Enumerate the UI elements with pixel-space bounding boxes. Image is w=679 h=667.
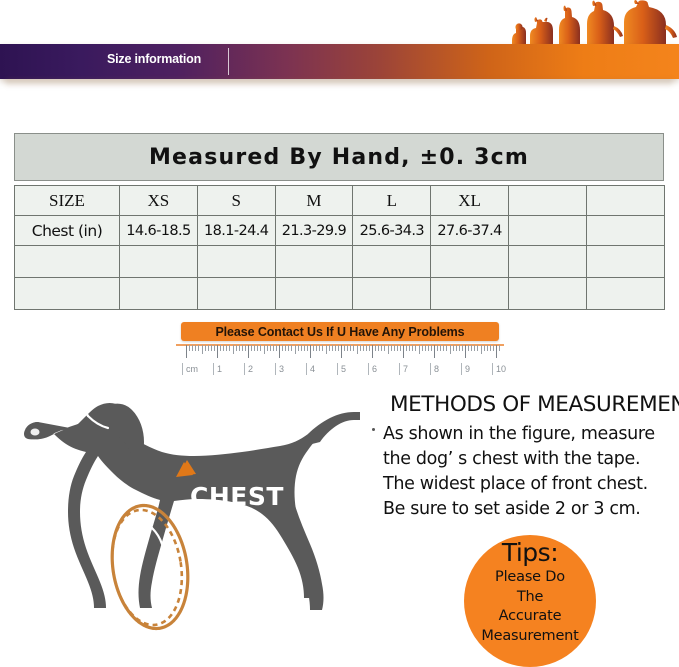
ruler-tick <box>481 345 482 354</box>
ruler-tick <box>431 345 432 351</box>
ruler-tick <box>233 345 234 354</box>
size-table-section: Measured By Hand, ±0. 3cm SIZE XS S M L … <box>14 133 664 310</box>
ruler-tick <box>419 345 420 354</box>
ruler-graphic: cm12345678910 <box>176 344 504 380</box>
ruler-tick <box>353 345 354 351</box>
table-cell <box>353 246 431 278</box>
ruler-label: 1 <box>217 364 222 374</box>
table-cell <box>197 278 275 310</box>
ruler-tick <box>264 345 265 354</box>
header-bar-shadow <box>6 79 672 88</box>
ruler-tick <box>446 345 447 351</box>
ruler-label: 3 <box>279 364 284 374</box>
ruler-tick <box>363 345 364 351</box>
ruler-tick <box>378 345 379 351</box>
ruler-tick <box>301 345 302 351</box>
ruler-tick <box>450 345 451 354</box>
methods-body: As shown in the figure, measure the dog’… <box>383 422 679 522</box>
ruler-tick <box>375 345 376 351</box>
ruler-tick <box>459 345 460 351</box>
ruler-tick <box>406 345 407 351</box>
table-cell <box>508 246 586 278</box>
ruler-tick <box>471 345 472 351</box>
ruler-tick <box>388 345 389 354</box>
ruler-label-line <box>430 363 431 375</box>
ruler-tick <box>298 345 299 351</box>
ruler-tick <box>428 345 429 351</box>
ruler-label: 5 <box>341 364 346 374</box>
ruler-tick <box>267 345 268 351</box>
ruler-tick <box>468 345 469 351</box>
ruler-label: 6 <box>372 364 377 374</box>
ruler-tick <box>248 345 249 358</box>
table-header-cell: XL <box>431 186 509 216</box>
ruler-label-line <box>399 363 400 375</box>
ruler-tick <box>443 345 444 351</box>
ruler-label: 2 <box>248 364 253 374</box>
ruler-tick <box>304 345 305 351</box>
table-cell <box>586 246 664 278</box>
ruler-tick <box>251 345 252 351</box>
ruler-tick <box>474 345 475 351</box>
ruler-tick <box>403 345 404 358</box>
ruler-tick <box>462 345 463 351</box>
table-cell <box>15 246 120 278</box>
table-header-cell <box>508 186 586 216</box>
ruler-tick <box>239 345 240 351</box>
ruler-tick <box>316 345 317 351</box>
table-cell <box>275 278 353 310</box>
ruler-label-line <box>337 363 338 375</box>
header-divider <box>228 48 229 75</box>
ruler-label-line <box>368 363 369 375</box>
table-row <box>15 246 665 278</box>
ruler-tick <box>425 345 426 351</box>
table-cell: 14.6-18.5 <box>120 216 198 246</box>
methods-title: METHODS OF MEASUREMENT <box>390 392 679 417</box>
size-table: SIZE XS S M L XL Chest (in) 14.6-18.5 18… <box>14 185 665 310</box>
table-cell <box>197 246 275 278</box>
ruler-tick <box>282 345 283 351</box>
ruler-tick <box>260 345 261 351</box>
methods-line: Be sure to set aside 2 or 3 cm. <box>383 497 679 522</box>
methods-line: As shown in the figure, measure <box>383 422 679 447</box>
ruler-tick <box>357 345 358 354</box>
table-header-cell: SIZE <box>15 186 120 216</box>
ruler-label-line <box>306 363 307 375</box>
table-cell <box>431 278 509 310</box>
table-header-cell: L <box>353 186 431 216</box>
ruler-tick <box>456 345 457 351</box>
ruler-tick <box>465 345 466 358</box>
ruler-tick <box>189 345 190 351</box>
ruler-tick <box>329 345 330 351</box>
ruler-label: 4 <box>310 364 315 374</box>
ruler-tick <box>415 345 416 351</box>
ruler-tick <box>493 345 494 351</box>
ruler-tick <box>195 345 196 351</box>
ruler-tick <box>496 345 497 358</box>
ruler-tick <box>205 345 206 351</box>
table-title: Measured By Hand, ±0. 3cm <box>14 133 664 181</box>
ruler-label: 8 <box>434 364 439 374</box>
tips-line: Measurement <box>456 627 604 647</box>
ruler-tick <box>307 345 308 351</box>
table-header-cell: M <box>275 186 353 216</box>
ruler-tick <box>499 345 500 351</box>
ruler-label: 10 <box>496 364 506 374</box>
table-header-row: SIZE XS S M L XL <box>15 186 665 216</box>
ruler-label-line <box>182 363 183 375</box>
table-cell <box>275 246 353 278</box>
ruler-tick <box>295 345 296 354</box>
table-cell: 21.3-29.9 <box>275 216 353 246</box>
ruler-tick <box>332 345 333 351</box>
ruler-tick <box>326 345 327 354</box>
table-cell <box>586 278 664 310</box>
ruler-tick <box>338 345 339 351</box>
table-cell <box>508 216 586 246</box>
page-header: Size information <box>0 0 679 95</box>
tips-line: The <box>456 588 604 608</box>
ruler-label-line <box>492 363 493 375</box>
table-cell: 25.6-34.3 <box>353 216 431 246</box>
chest-label: CHEST <box>190 482 284 511</box>
table-header-cell <box>586 186 664 216</box>
ruler-tick <box>490 345 491 351</box>
tips-line: Please Do <box>456 568 604 588</box>
ruler-label-line <box>213 363 214 375</box>
ruler-tick <box>391 345 392 351</box>
ruler-tick <box>319 345 320 351</box>
tips-heading: Tips: <box>464 538 596 567</box>
ruler-tick <box>226 345 227 351</box>
ruler-tick <box>310 345 311 358</box>
table-cell <box>120 246 198 278</box>
ruler-tick <box>242 345 243 351</box>
ruler-tick <box>257 345 258 351</box>
ruler-tick <box>335 345 336 351</box>
ruler-tick <box>202 345 203 354</box>
header-title: Size information <box>107 52 201 66</box>
ruler-tick <box>186 345 187 358</box>
table-row: Chest (in) 14.6-18.5 18.1-24.4 21.3-29.9… <box>15 216 665 246</box>
ruler-tick <box>487 345 488 351</box>
ruler-tick <box>291 345 292 351</box>
ruler-tick <box>217 345 218 358</box>
ruler-label-line <box>244 363 245 375</box>
ruler-tick <box>484 345 485 351</box>
table-cell: 27.6-37.4 <box>431 216 509 246</box>
ruler-tick <box>366 345 367 351</box>
ruler-label: 7 <box>403 364 408 374</box>
ruler-tick <box>341 345 342 358</box>
ruler-tick <box>437 345 438 351</box>
ruler-tick <box>220 345 221 351</box>
ruler-tick <box>347 345 348 351</box>
ruler-tick <box>394 345 395 351</box>
ruler-tick <box>270 345 271 351</box>
ruler-tick <box>440 345 441 351</box>
tips-circle: Tips: Please Do The Accurate Measurement <box>464 535 596 667</box>
ruler-tick <box>285 345 286 351</box>
table-row <box>15 278 665 310</box>
table-cell <box>431 246 509 278</box>
ruler-tick <box>369 345 370 351</box>
ruler-tick <box>434 345 435 358</box>
table-header-cell: S <box>197 186 275 216</box>
ruler-tick <box>208 345 209 351</box>
ruler-tick <box>360 345 361 351</box>
ruler-tick <box>214 345 215 351</box>
methods-bullet-icon <box>372 428 375 431</box>
table-header-cell: XS <box>120 186 198 216</box>
ruler-tick <box>350 345 351 351</box>
dog-silhouettes-row-icon <box>504 0 679 50</box>
ruler-tick <box>313 345 314 351</box>
ruler-tick <box>344 345 345 351</box>
ruler-label-line <box>461 363 462 375</box>
table-cell: 18.1-24.4 <box>197 216 275 246</box>
ruler-tick <box>211 345 212 351</box>
dog-illustration <box>4 382 368 667</box>
ruler-tick <box>422 345 423 351</box>
ruler-tick <box>279 345 280 358</box>
ruler-tick <box>381 345 382 351</box>
ruler-tick <box>198 345 199 351</box>
ruler-tick <box>322 345 323 351</box>
ruler-tick <box>229 345 230 351</box>
ruler-tick <box>412 345 413 351</box>
table-cell <box>353 278 431 310</box>
contact-banner: Please Contact Us If U Have Any Problems <box>181 322 499 341</box>
table-cell: Chest (in) <box>15 216 120 246</box>
methods-line: the dog’ s chest with the tape. <box>383 447 679 472</box>
ruler-tick <box>372 345 373 358</box>
ruler-tick <box>192 345 193 351</box>
ruler-tick <box>288 345 289 351</box>
tips-lines: Please Do The Accurate Measurement <box>456 568 604 646</box>
table-cell <box>120 278 198 310</box>
header-gradient-bar <box>0 44 679 79</box>
ruler-tick <box>236 345 237 351</box>
ruler-tick <box>273 345 274 351</box>
table-cell <box>508 278 586 310</box>
ruler-tick <box>453 345 454 351</box>
table-cell <box>15 278 120 310</box>
methods-line: The widest place of front chest. <box>383 472 679 497</box>
ruler-tick <box>254 345 255 351</box>
ruler-tick <box>477 345 478 351</box>
ruler-tick <box>245 345 246 351</box>
ruler-tick <box>223 345 224 351</box>
tips-line: Accurate <box>456 607 604 627</box>
ruler-tick <box>384 345 385 351</box>
ruler-label: cm <box>186 364 198 374</box>
ruler-label-line <box>275 363 276 375</box>
ruler-tick <box>397 345 398 351</box>
ruler-tick <box>400 345 401 351</box>
table-cell <box>586 216 664 246</box>
ruler-tick <box>409 345 410 351</box>
ruler-tick <box>276 345 277 351</box>
ruler-label: 9 <box>465 364 470 374</box>
